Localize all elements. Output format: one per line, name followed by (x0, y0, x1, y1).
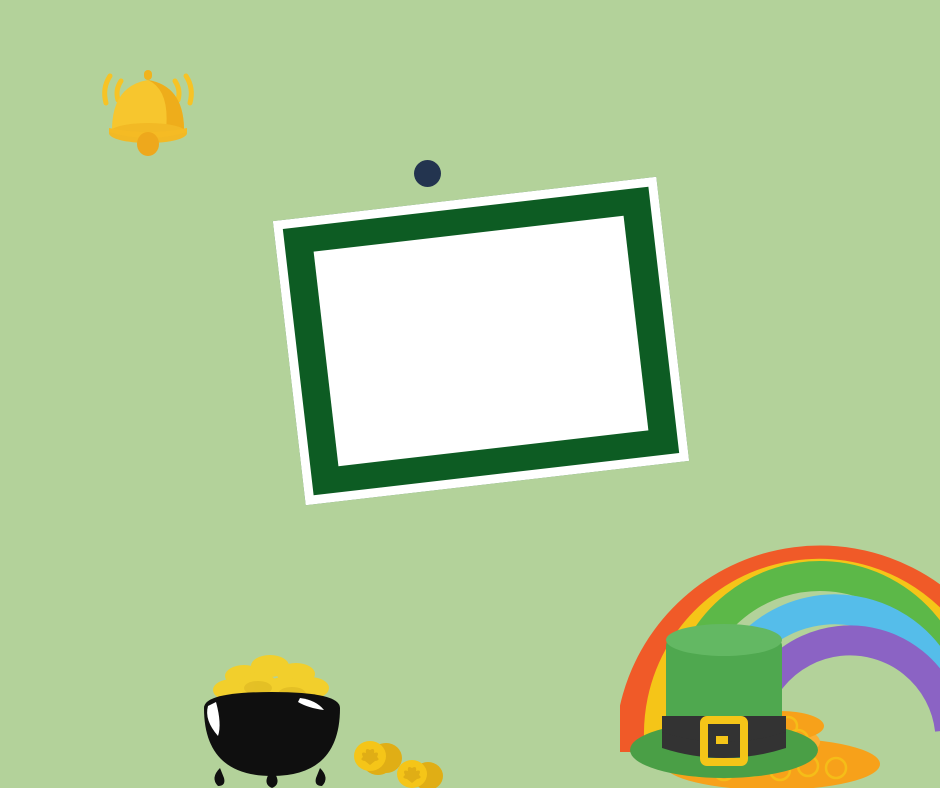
sign-face (314, 216, 649, 466)
leprechaun-hat-icon (628, 620, 818, 788)
sign-due-date (481, 342, 483, 350)
sign-nail-icon (414, 160, 441, 187)
poster-canvas (0, 0, 940, 788)
pot-of-gold-icon (192, 636, 352, 788)
gold-coin-stack-right (392, 752, 452, 788)
sign-frame (273, 177, 689, 505)
